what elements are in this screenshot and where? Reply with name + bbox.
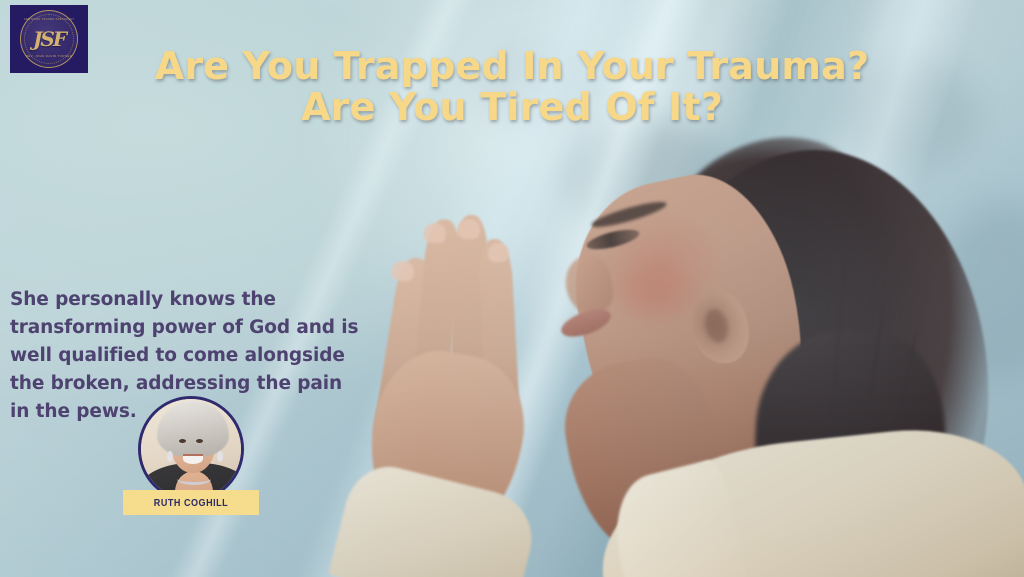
promo-banner: CERTIFIED TRAUMA SPECIALIST JSF REV. JOH…: [0, 0, 1024, 577]
author-name-plate: RUTH COGHILL: [123, 490, 259, 515]
brand-logo[interactable]: CERTIFIED TRAUMA SPECIALIST JSF REV. JOH…: [10, 5, 88, 73]
seal-icon: CERTIFIED TRAUMA SPECIALIST JSF REV. JOH…: [20, 10, 78, 68]
author-avatar: [138, 396, 244, 502]
author-badge: RUTH COGHILL: [138, 396, 250, 515]
woman-looking-up: [564, 0, 1024, 577]
raised-hand: [352, 157, 592, 577]
seal-arc-top-text: CERTIFIED TRAUMA SPECIALIST: [21, 18, 77, 21]
monogram-text: JSF: [33, 29, 65, 49]
seal-arc-bottom-text: REV. JOHN DAVID TURNER: [21, 54, 77, 58]
